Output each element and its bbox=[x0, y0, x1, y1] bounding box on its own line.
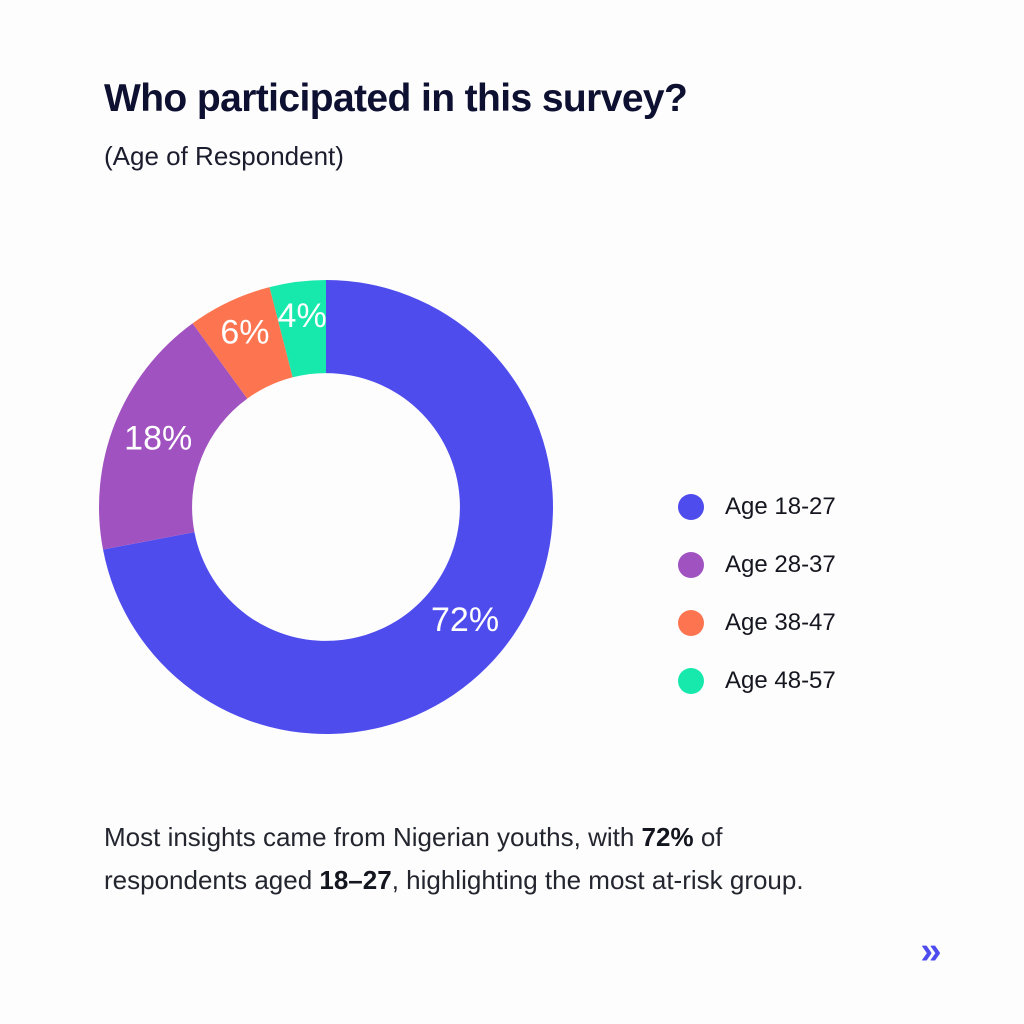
donut-chart-svg: 72%18%6%4% bbox=[99, 280, 553, 734]
donut-slice-value-label: 4% bbox=[278, 297, 327, 335]
legend-swatch-icon bbox=[678, 552, 704, 578]
legend-item-label: Age 48-57 bbox=[725, 669, 836, 693]
donut-slice-value-label: 6% bbox=[220, 314, 269, 352]
donut-chart: 72%18%6%4% bbox=[99, 280, 553, 734]
legend-swatch-icon bbox=[678, 610, 704, 636]
legend-item-age-48-57[interactable]: Age 48-57 bbox=[678, 660, 938, 702]
double-chevron-right-icon[interactable]: » bbox=[908, 925, 954, 977]
chart-header: Who participated in this survey? (Age of… bbox=[104, 78, 904, 172]
legend-item-age-38-47[interactable]: Age 38-47 bbox=[678, 602, 938, 644]
caption-emphasis: 72% bbox=[642, 822, 694, 852]
donut-slice-value-label: 18% bbox=[124, 420, 192, 458]
survey-age-slide: Who participated in this survey? (Age of… bbox=[0, 0, 1024, 1024]
legend-item-label: Age 38-47 bbox=[725, 611, 836, 635]
insight-caption: Most insights came from Nigerian youths,… bbox=[104, 816, 864, 902]
legend-item-label: Age 28-37 bbox=[725, 553, 836, 577]
chart-legend: Age 18-27 Age 28-37 Age 38-47 Age 48-57 bbox=[678, 486, 938, 702]
legend-swatch-icon bbox=[678, 494, 704, 520]
legend-item-label: Age 18-27 bbox=[725, 495, 836, 519]
legend-item-age-18-27[interactable]: Age 18-27 bbox=[678, 486, 938, 528]
legend-item-age-28-37[interactable]: Age 28-37 bbox=[678, 544, 938, 586]
donut-slice-group bbox=[99, 280, 553, 734]
page-title: Who participated in this survey? bbox=[104, 78, 904, 120]
caption-emphasis: 18–27 bbox=[319, 865, 391, 895]
page-subtitle: (Age of Respondent) bbox=[104, 141, 904, 172]
donut-slice-value-label: 72% bbox=[431, 601, 499, 639]
legend-swatch-icon bbox=[678, 668, 704, 694]
